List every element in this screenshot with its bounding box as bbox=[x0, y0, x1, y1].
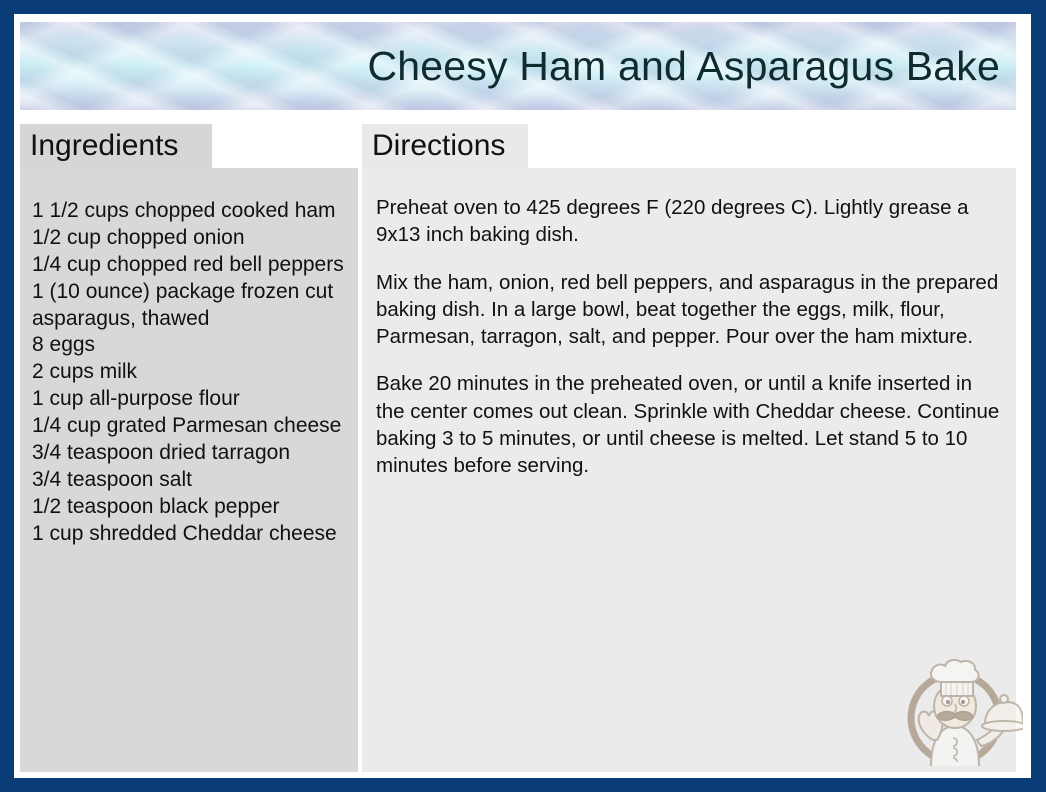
list-item: 1 cup all-purpose flour bbox=[32, 386, 352, 413]
list-item: 1 1/2 cups chopped cooked ham bbox=[32, 198, 352, 225]
recipe-card: Cheesy Ham and Asparagus Bake bbox=[0, 0, 1046, 792]
direction-step: Bake 20 minutes in the preheated oven, o… bbox=[376, 370, 1000, 479]
directions-heading: Directions bbox=[372, 131, 505, 161]
ingredients-panel: 1 1/2 cups chopped cooked ham 1/2 cup ch… bbox=[20, 168, 364, 772]
ingredients-list: 1 1/2 cups chopped cooked ham 1/2 cup ch… bbox=[32, 198, 352, 547]
recipe-page: Cheesy Ham and Asparagus Bake bbox=[14, 14, 1031, 778]
directions-steps: Preheat oven to 425 degrees F (220 degre… bbox=[376, 194, 1000, 479]
list-item: 1/4 cup grated Parmesan cheese bbox=[32, 413, 352, 440]
list-item: 3/4 teaspoon dried tarragon bbox=[32, 440, 352, 467]
directions-panel: Preheat oven to 425 degrees F (220 degre… bbox=[362, 168, 1016, 772]
direction-step: Mix the ham, onion, red bell peppers, an… bbox=[376, 269, 1000, 351]
directions-column: Directions Preheat oven to 425 degrees F… bbox=[362, 124, 1016, 772]
list-item: 1/2 teaspoon black pepper bbox=[32, 494, 352, 521]
ingredients-tab: Ingredients bbox=[20, 124, 212, 168]
title-banner: Cheesy Ham and Asparagus Bake bbox=[20, 22, 1016, 110]
recipe-title: Cheesy Ham and Asparagus Bake bbox=[367, 43, 1016, 90]
list-item: 1/4 cup chopped red bell peppers bbox=[32, 252, 352, 279]
directions-tab: Directions bbox=[362, 124, 528, 168]
ingredients-column: Ingredients 1 1/2 cups chopped cooked ha… bbox=[20, 124, 364, 772]
list-item: 8 eggs bbox=[32, 332, 352, 359]
list-item: 1/2 cup chopped onion bbox=[32, 225, 352, 252]
list-item: 3/4 teaspoon salt bbox=[32, 467, 352, 494]
direction-step: Preheat oven to 425 degrees F (220 degre… bbox=[376, 194, 1000, 249]
list-item: 1 cup shredded Cheddar cheese bbox=[32, 521, 352, 548]
ingredients-heading: Ingredients bbox=[30, 131, 178, 161]
list-item: 2 cups milk bbox=[32, 359, 352, 386]
list-item: 1 (10 ounce) package frozen cut asparagu… bbox=[32, 279, 352, 333]
